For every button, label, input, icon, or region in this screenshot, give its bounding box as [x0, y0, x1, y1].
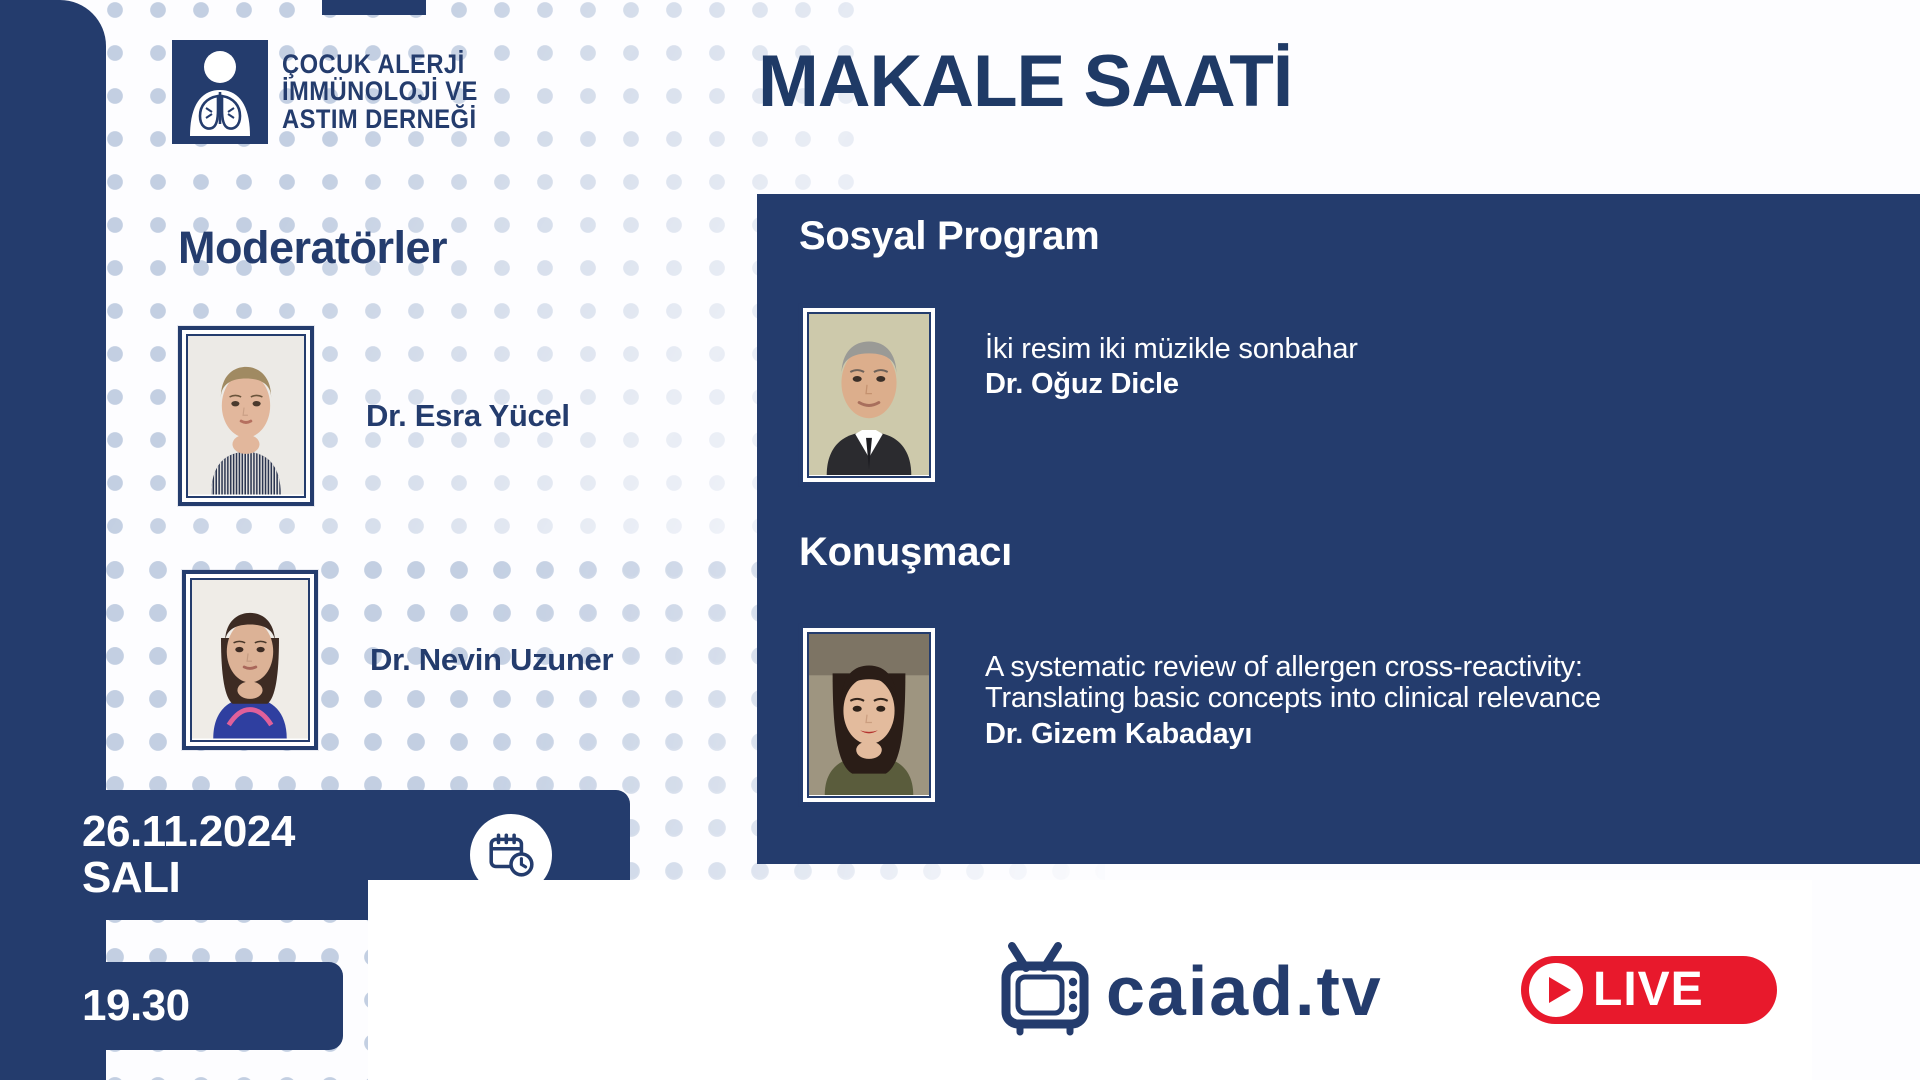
moderators-heading: Moderatörler [178, 222, 447, 274]
program-card: Sosyal Program [757, 194, 1920, 864]
social-program-speaker: Dr. Oğuz Dicle [985, 368, 1358, 401]
date-text: 26.11.2024SALI [82, 809, 295, 901]
live-badge[interactable]: LIVE [1521, 956, 1777, 1024]
portrait-gizem-kabadayi [807, 632, 931, 798]
social-program-entry: İki resim iki müzikle sonbahar Dr. Oğuz … [799, 304, 1358, 486]
moderator-name: Dr. Esra Yücel [366, 398, 570, 434]
logo-wordmark: ÇOCUK ALERJİ İMMÜNOLOJİ VE ASTIM DERNEĞİ [282, 51, 505, 134]
logo-line-3: ASTIM DERNEĞİ [282, 106, 478, 134]
portrait-oguz-dicle [807, 312, 931, 478]
moderator-photo-frame [182, 570, 318, 750]
time-block: 19.30 [0, 962, 343, 1050]
retro-tv-icon [1000, 938, 1104, 1043]
event-time: 19.30 [82, 981, 190, 1031]
channel-logo[interactable]: caiad.tv [1000, 938, 1383, 1043]
portrait-nevin-uzuner [190, 578, 310, 742]
logo-line-2: İMMÜNOLOJİ VE [282, 78, 478, 106]
page-title: MAKALE SAATİ [758, 40, 1292, 123]
logo-line-1: ÇOCUK ALERJİ [282, 51, 478, 79]
event-date: 26.11.2024 [82, 807, 295, 856]
association-logo: ÇOCUK ALERJİ İMMÜNOLOJİ VE ASTIM DERNEĞİ [172, 40, 505, 144]
person-lungs-icon [172, 40, 268, 144]
poster-canvas: ÇOCUK ALERJİ İMMÜNOLOJİ VE ASTIM DERNEĞİ… [0, 0, 1920, 1080]
moderator-row: Dr. Nevin Uzuner [182, 570, 613, 750]
social-program-info: İki resim iki müzikle sonbahar Dr. Oğuz … [985, 334, 1358, 401]
speaker-name: Dr. Gizem Kabadayı [985, 718, 1601, 751]
speaker-info: A systematic review of allergen cross-re… [985, 652, 1601, 751]
live-label: LIVE [1593, 966, 1704, 1014]
speaker-photo-frame [799, 304, 939, 486]
speaker-photo-frame [799, 624, 939, 806]
channel-name: caiad.tv [1106, 956, 1383, 1026]
social-program-heading: Sosyal Program [799, 214, 1099, 259]
event-day: SALI [82, 853, 180, 902]
speaker-heading: Konuşmacı [799, 530, 1012, 575]
moderator-name: Dr. Nevin Uzuner [370, 642, 613, 678]
speaker-talk-title: A systematic review of allergen cross-re… [985, 652, 1601, 715]
play-circle-icon [1529, 963, 1583, 1017]
top-navy-chip [322, 0, 426, 15]
speaker-entry: A systematic review of allergen cross-re… [799, 624, 1601, 806]
social-program-talk: İki resim iki müzikle sonbahar [985, 334, 1358, 365]
moderator-photo-frame [178, 326, 314, 506]
portrait-esra-yucel [186, 334, 306, 498]
moderator-row: Dr. Esra Yücel [178, 326, 570, 506]
